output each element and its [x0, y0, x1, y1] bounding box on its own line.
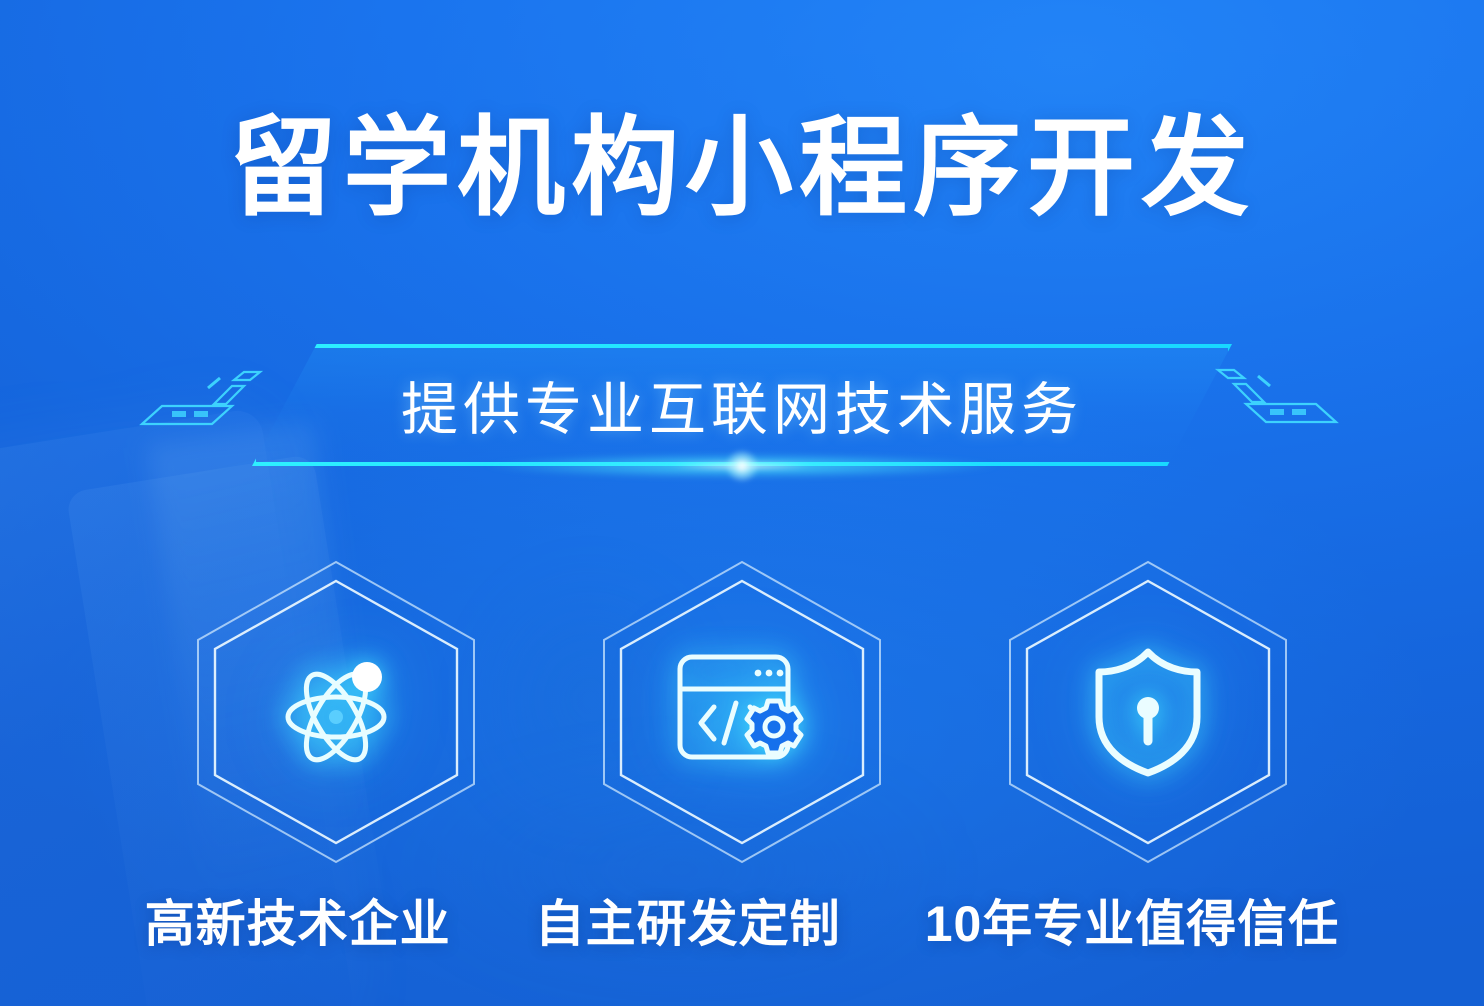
feature-row [0, 556, 1484, 868]
page-title: 留学机构小程序开发 [0, 108, 1484, 229]
poster-canvas: 留学机构小程序开发 提供专业互联网技术服务 [0, 0, 1484, 1006]
caption-custom-dev: 自主研发定制 [535, 884, 841, 956]
shield-lock-icon [1087, 645, 1209, 779]
caption-high-tech: 高新技术企业 [145, 884, 451, 956]
feature-item-custom-dev[interactable] [597, 556, 887, 868]
atom-icon [271, 647, 401, 777]
caption-trusted: 10年专业值得信任 [925, 884, 1340, 956]
subtitle-banner: 提供专业互联网技术服务 [252, 344, 1232, 466]
code-window-gear-icon [674, 649, 810, 775]
feature-item-high-tech[interactable] [191, 556, 481, 868]
caption-row: 高新技术企业 自主研发定制 10年专业值得信任 [0, 884, 1484, 956]
feature-item-trusted[interactable] [1003, 556, 1293, 868]
